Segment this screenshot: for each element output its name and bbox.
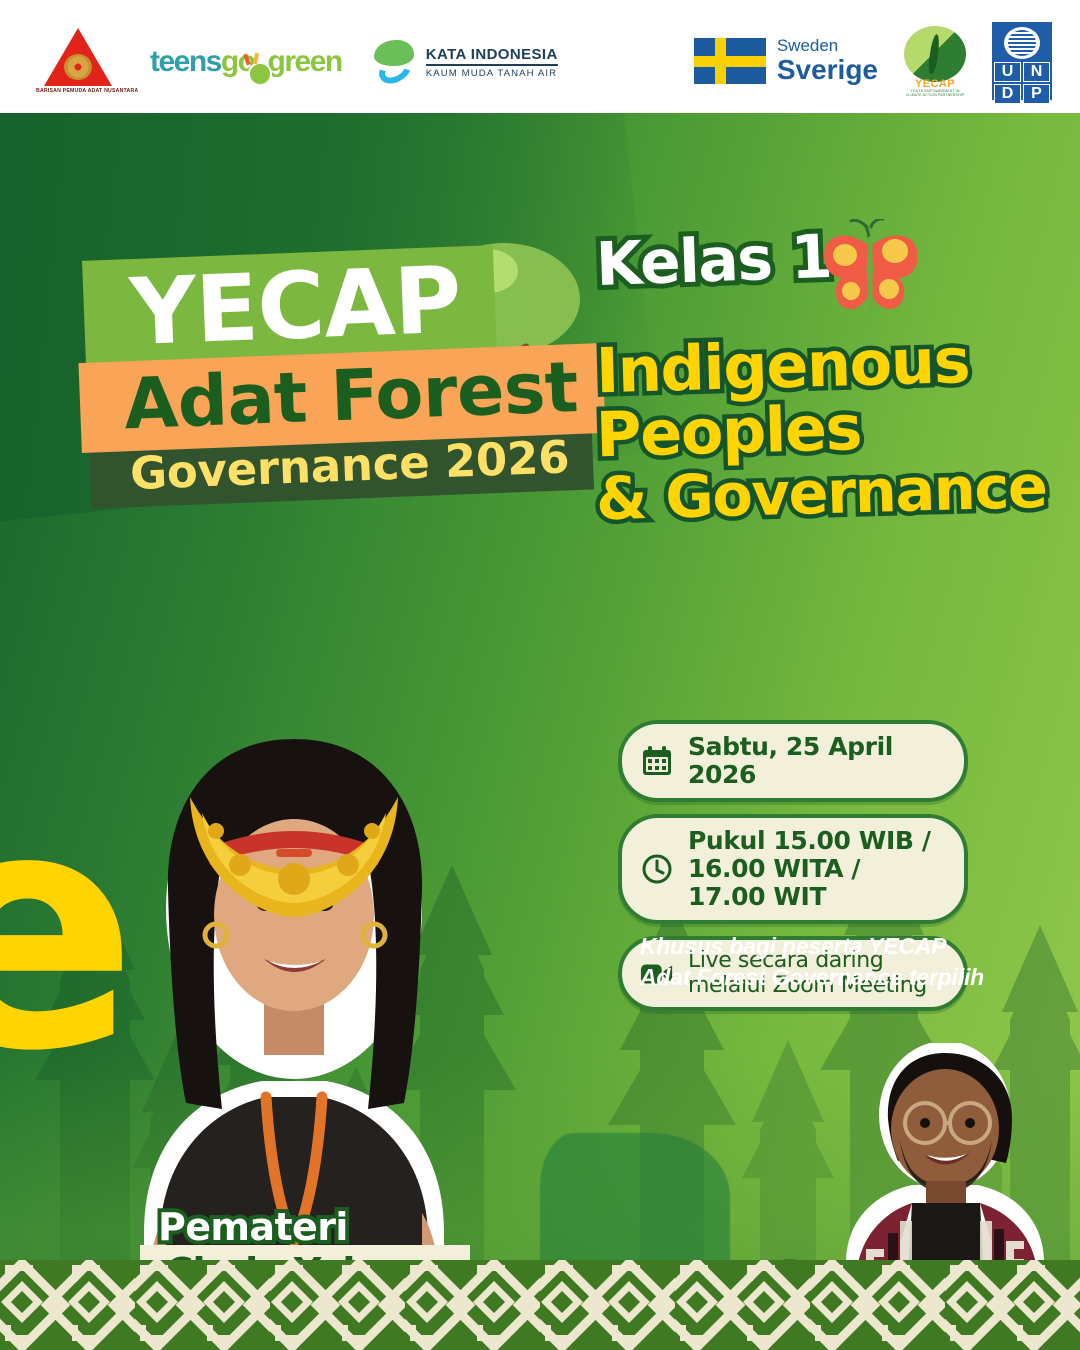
yecap-logo-sub: YOUTH EMPOWERMENT IN CLIMATE ACTION PART…: [902, 89, 968, 97]
kata-indonesia-logo: KATA INDONESIA KAUM MUDA TANAH AIR: [372, 40, 558, 84]
tgg-word-green: green: [268, 45, 342, 79]
sweden-label-sv: Sverige: [777, 55, 878, 84]
headline-block: Indigenous Peoples & Governance: [596, 333, 1056, 523]
title-lockup: YECAP Adat Forest Governance 2026: [84, 253, 604, 500]
bpan-flower-icon: [64, 54, 92, 80]
teens-go-green-logo: teens go green: [150, 38, 342, 86]
title-line-1: YECAP: [128, 256, 462, 357]
speaker-role-label: Pemateri: [158, 1205, 348, 1249]
bpan-logo-caption: BARISAN PEMUDA ADAT NUSANTARA: [36, 88, 120, 94]
pill-date-text: Sabtu, 25 April 2026: [688, 733, 944, 789]
kata-logo-line2: KAUM MUDA TANAH AIR: [426, 68, 558, 79]
kata-leaf-wave-icon: [372, 40, 418, 84]
songket-border-pattern: [0, 1260, 1080, 1350]
yecap-leaf-circle-icon: [904, 26, 966, 82]
note-line-2: Adat Forest Governance terpilih: [640, 962, 1020, 993]
title-line-2: Adat Forest: [123, 352, 579, 439]
clock-icon: [640, 852, 674, 886]
pill-date: Sabtu, 25 April 2026: [618, 720, 968, 802]
undp-letters: U N D P: [992, 60, 1052, 100]
sweden-label-en: Sweden: [777, 37, 878, 55]
poster-canvas: e: [0, 113, 1080, 1350]
pill-time-line2: 16.00 WITA / 17.00 WIT: [688, 854, 860, 911]
undp-letter-u: U: [994, 62, 1021, 82]
undp-letter-d: D: [994, 84, 1021, 104]
calendar-icon: [640, 744, 674, 778]
kelas-badge: Kelas 1: [595, 227, 832, 295]
note-line-1: Khusus bagi peserta YECAP: [640, 931, 1020, 962]
headline-line-3: & Governance: [595, 456, 1057, 530]
sweden-flag-icon: [694, 38, 766, 84]
logo-group-right: Sweden Sverige YECAP YOUTH EMPOWERMENT I…: [694, 22, 1052, 100]
sweden-logo: Sweden Sverige: [694, 37, 878, 84]
participation-note: Khusus bagi peserta YECAP Adat Forest Go…: [640, 931, 1020, 993]
yecap-logo: YECAP YOUTH EMPOWERMENT IN CLIMATE ACTIO…: [902, 26, 968, 96]
partner-logo-bar: BARISAN PEMUDA ADAT NUSANTARA teens go g…: [0, 0, 1080, 113]
logo-group-left: BARISAN PEMUDA ADAT NUSANTARA teens go g…: [36, 26, 558, 98]
undp-letter-p: P: [1023, 84, 1050, 104]
poster-root: BARISAN PEMUDA ADAT NUSANTARA teens go g…: [0, 0, 1080, 1350]
pill-time-line1: Pukul 15.00 WIB /: [688, 826, 931, 855]
bpan-logo: BARISAN PEMUDA ADAT NUSANTARA: [36, 26, 120, 98]
butterfly-icon: [811, 219, 931, 319]
kata-logo-line1: KATA INDONESIA: [426, 46, 558, 66]
tgg-word-teens: teens: [150, 45, 221, 79]
undp-letter-n: N: [1023, 62, 1050, 82]
pill-time-text: Pukul 15.00 WIB / 16.00 WITA / 17.00 WIT: [688, 827, 944, 911]
un-globe-icon: [1004, 27, 1040, 59]
headline-column: Kelas 1 Indigenous: [596, 231, 1056, 523]
globe-icon: [248, 62, 272, 86]
undp-logo: U N D P: [992, 22, 1052, 100]
kelas-row: Kelas 1: [596, 231, 1056, 315]
pill-time: Pukul 15.00 WIB / 16.00 WITA / 17.00 WIT: [618, 814, 968, 924]
